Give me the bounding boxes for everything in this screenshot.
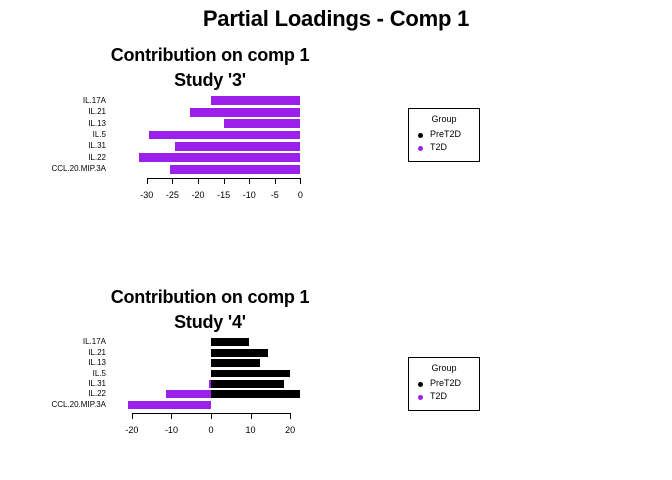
bar: [211, 380, 284, 388]
bar: [175, 142, 300, 151]
x-axis-tick-label: 0: [191, 425, 231, 435]
x-axis-tick-label: 20: [270, 425, 310, 435]
y-axis-label: IL.13: [88, 358, 106, 367]
x-axis-tick: [147, 178, 148, 184]
bar: [149, 131, 300, 140]
x-axis-tick: [290, 413, 291, 419]
legend-marker-dot-icon: [418, 133, 423, 138]
x-axis-tick: [211, 413, 212, 419]
legend-marker-dot-icon: [418, 146, 423, 151]
y-axis-label: IL.17A: [83, 96, 106, 105]
bar: [211, 96, 301, 105]
x-axis-tick-label: 10: [231, 425, 271, 435]
bar: [211, 370, 290, 378]
y-axis-label: IL.31: [88, 141, 106, 150]
x-axis-tick-label: -10: [151, 425, 191, 435]
bar-secondary: [130, 401, 211, 409]
legend-item: T2D: [418, 142, 478, 155]
bar: [139, 153, 300, 162]
bar-secondary: [209, 380, 211, 388]
y-axis-label: IL.17A: [83, 337, 106, 346]
bar: [224, 119, 301, 128]
chart-1-legend-title: Group: [409, 114, 479, 124]
legend-marker-dot-icon: [418, 382, 423, 387]
x-axis-tick: [198, 178, 199, 184]
y-axis-label: IL.5: [93, 130, 106, 139]
y-axis-label: IL.13: [88, 119, 106, 128]
x-axis-tick-label: 0: [280, 190, 320, 200]
y-axis-label: IL.21: [88, 348, 106, 357]
bar: [211, 359, 260, 367]
legend-item: PreT2D: [418, 129, 478, 142]
y-axis-label: IL.31: [88, 379, 106, 388]
legend-item-label: T2D: [430, 391, 447, 401]
x-axis-tick: [172, 178, 173, 184]
bar-secondary: [166, 390, 211, 398]
legend-marker-dot-icon: [418, 395, 423, 400]
x-axis-tick: [249, 178, 250, 184]
bar: [170, 165, 301, 174]
y-axis-label: IL.21: [88, 107, 106, 116]
bar: [190, 108, 300, 117]
x-axis-tick: [224, 178, 225, 184]
x-axis-tick-label: -20: [112, 425, 152, 435]
bar: [211, 349, 268, 357]
x-axis-tick: [132, 413, 133, 419]
x-axis-tick: [275, 178, 276, 184]
x-axis-tick: [251, 413, 252, 419]
legend-item-label: PreT2D: [430, 378, 461, 388]
legend-item: T2D: [418, 391, 478, 404]
y-axis-label: IL.5: [93, 369, 106, 378]
x-axis-tick: [300, 178, 301, 184]
y-axis-label: IL.22: [88, 389, 106, 398]
y-axis-label: CCL.20.MIP.3A: [51, 400, 106, 409]
y-axis-label: IL.22: [88, 153, 106, 162]
x-axis-tick: [171, 413, 172, 419]
bar: [211, 390, 300, 398]
legend-item-label: T2D: [430, 142, 447, 152]
legend-item: PreT2D: [418, 378, 478, 391]
chart-2-legend-title: Group: [409, 363, 479, 373]
legend-item-label: PreT2D: [430, 129, 461, 139]
y-axis-label: CCL.20.MIP.3A: [51, 164, 106, 173]
bar: [211, 338, 249, 346]
